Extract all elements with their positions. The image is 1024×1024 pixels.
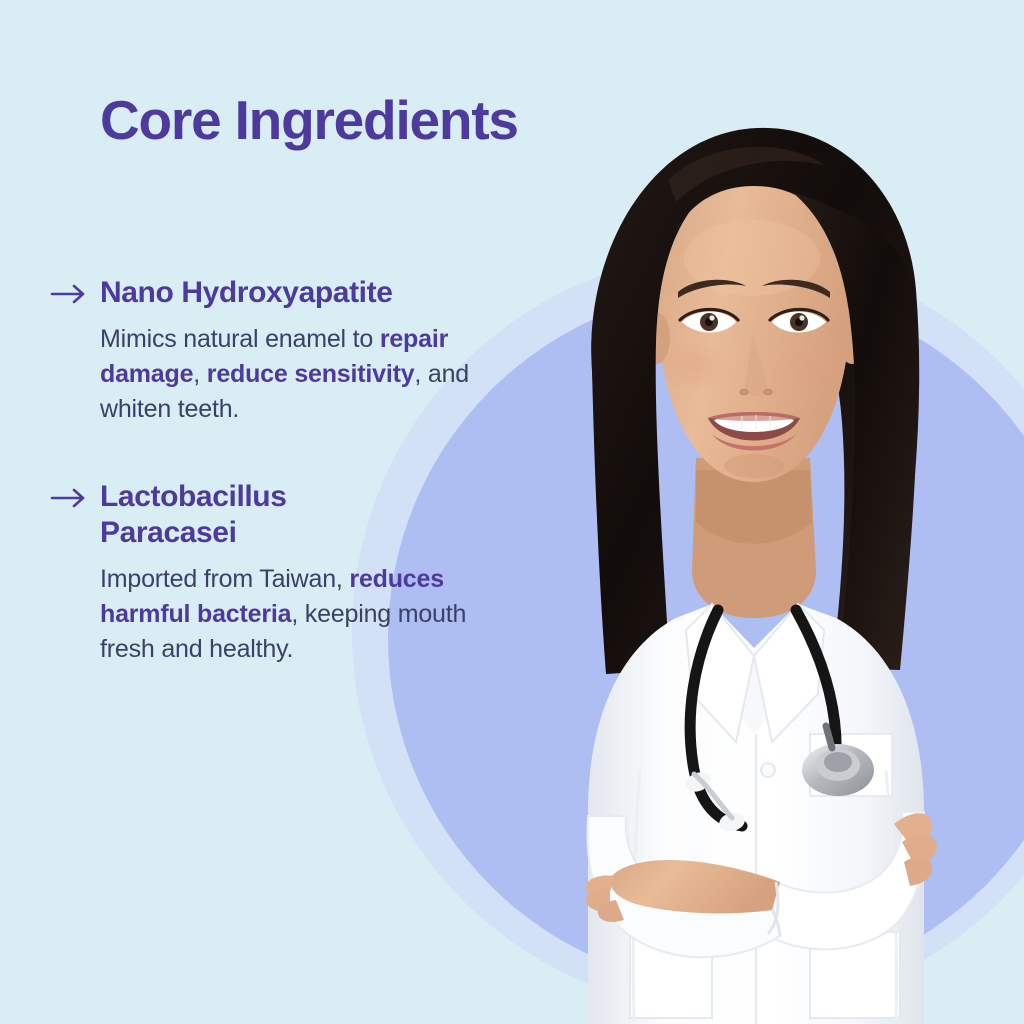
ingredient-list: Nano Hydroxyapatite Mimics natural ename…: [50, 275, 570, 719]
infographic-canvas: Core Ingredients Nano Hydroxyapatite Mim…: [0, 0, 1024, 1024]
arrow-right-icon: [50, 277, 90, 311]
ingredient-description: Mimics natural enamel to repair damage, …: [100, 322, 512, 427]
ingredient-description: Imported from Taiwan, reduces harmful ba…: [100, 562, 512, 667]
ingredient-item: Nano Hydroxyapatite Mimics natural ename…: [50, 275, 570, 427]
arrow-right-icon: [50, 481, 90, 515]
text-column: Core Ingredients Nano Hydroxyapatite Mim…: [0, 0, 580, 1024]
ingredient-item: Lactobacillus Paracasei Imported from Ta…: [50, 479, 570, 667]
page-title: Core Ingredients: [100, 92, 518, 150]
ingredient-name: Lactobacillus Paracasei: [100, 479, 400, 552]
ingredient-name: Nano Hydroxyapatite: [100, 275, 400, 312]
